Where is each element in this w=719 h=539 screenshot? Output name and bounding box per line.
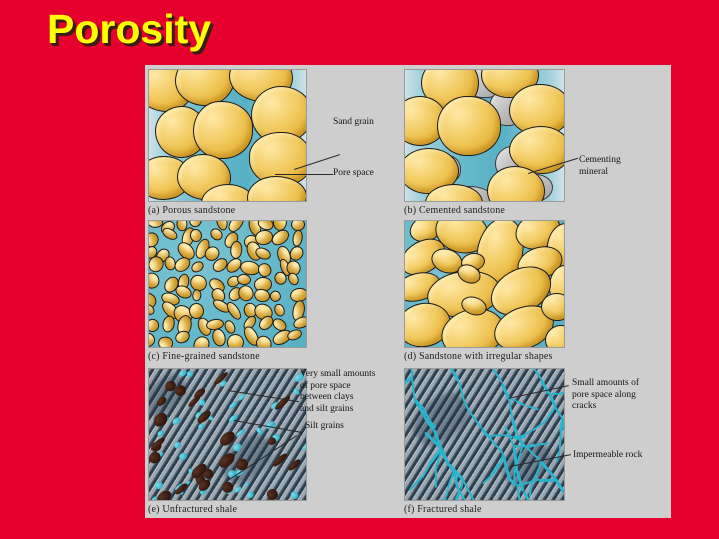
crack-line	[529, 482, 533, 497]
crack-line	[530, 368, 542, 380]
callout-cementing-mineral: Cementing mineral	[579, 155, 621, 178]
crack-line	[554, 406, 563, 419]
sand-grain	[269, 226, 292, 248]
caption-panel-e: (e) Unfractured shale	[148, 504, 237, 515]
figure-plate: Sand grain Pore space (a) Porous sandsto…	[145, 65, 671, 518]
panel-b-image	[404, 69, 565, 202]
callout-pore-space-along-cracks: Small amounts of pore space along cracks	[572, 378, 639, 413]
panel-irregular-sandstone: (d) Sandstone with irregular shapes	[404, 220, 668, 365]
crack-line	[516, 400, 527, 407]
caption-panel-d: (d) Sandstone with irregular shapes	[404, 351, 553, 362]
crack-line	[548, 393, 556, 407]
pore-space-speck	[231, 442, 242, 453]
panel-f-image	[404, 368, 565, 501]
sand-grain	[291, 229, 304, 248]
sand-grain	[148, 271, 160, 290]
callout-pore-space-between-clays: Very small amounts of pore space between…	[300, 369, 375, 415]
crack-line	[528, 444, 536, 448]
silt-grain	[265, 487, 281, 501]
slide-canvas: Porosity Sand grain Pore sp	[0, 0, 719, 539]
sand-grain	[160, 226, 179, 242]
leader-line-pore-space	[275, 174, 333, 175]
crack-line	[435, 469, 437, 488]
panel-porous-sandstone: Sand grain Pore space (a) Porous sandsto…	[148, 69, 398, 217]
pore-space-speck	[177, 452, 187, 462]
pore-space-speck	[153, 480, 163, 490]
pore-space-speck	[173, 440, 182, 449]
pore-space-speck	[171, 416, 182, 427]
panel-fine-grained-sandstone: (c) Fine-grained sandstone	[148, 220, 398, 365]
caption-panel-b: (b) Cemented sandstone	[404, 205, 505, 216]
sand-grain	[273, 302, 287, 318]
callout-silt-grains: Silt grains	[305, 421, 344, 433]
sand-grain	[157, 336, 173, 348]
crack-line	[491, 463, 501, 476]
caption-panel-c: (c) Fine-grained sandstone	[148, 351, 260, 362]
silt-grain	[287, 457, 302, 471]
crack-line	[421, 463, 431, 478]
sand-grain	[148, 317, 160, 333]
silt-grain	[155, 488, 174, 501]
pore-space-speck	[289, 489, 300, 500]
callout-impermeable-rock: Impermeable rock	[573, 450, 642, 462]
page-title: Porosity	[47, 8, 211, 51]
sand-grain	[437, 96, 501, 156]
silt-grain	[151, 411, 170, 429]
crack-line	[559, 432, 562, 449]
crack-line	[438, 497, 447, 501]
crack-line	[526, 405, 539, 411]
pore-space-speck	[246, 491, 255, 500]
panel-fractured-shale: Small amounts of pore space along cracks…	[404, 368, 668, 518]
crack-line	[540, 379, 550, 395]
panel-unfractured-shale: Very small amounts of pore space between…	[148, 368, 398, 518]
pore-space-speck	[186, 369, 195, 378]
crack-line	[508, 399, 513, 417]
panel-c-image	[148, 220, 307, 348]
crack-line	[458, 381, 465, 401]
crack-line	[468, 410, 482, 429]
sand-grain	[193, 101, 253, 159]
crack-line	[448, 368, 460, 382]
crack-line	[514, 445, 529, 447]
pore-space-speck	[228, 400, 238, 409]
crack-line	[563, 491, 565, 501]
crack-line	[482, 474, 493, 484]
caption-panel-a: (a) Porous sandstone	[148, 205, 235, 216]
sand-grain	[268, 289, 283, 304]
panel-a-image	[148, 69, 307, 202]
crack-line	[435, 457, 440, 470]
sand-grain	[148, 330, 158, 348]
sand-grain	[255, 260, 274, 279]
crack-line	[539, 478, 555, 481]
pore-space-speck	[235, 428, 246, 438]
crack-line	[531, 419, 547, 432]
sand-grain	[189, 259, 205, 274]
crack-line	[411, 376, 416, 399]
crack-line	[408, 477, 422, 491]
silt-grain	[220, 480, 235, 495]
fine-grain-field	[149, 221, 306, 347]
callout-sand-grain: Sand grain	[333, 117, 374, 129]
silt-grain	[217, 451, 238, 471]
callout-pore-space: Pore space	[333, 168, 374, 180]
panel-cemented-sandstone: Cementing mineral (b) Cemented sandstone	[404, 69, 668, 217]
silt-grain	[272, 451, 290, 468]
pore-space-speck	[301, 443, 307, 453]
pore-space-speck	[227, 413, 238, 424]
crack-line	[539, 460, 556, 479]
sand-grain	[192, 289, 202, 301]
crack-line	[490, 368, 503, 383]
pore-space-speck	[197, 423, 204, 430]
pore-space-speck	[255, 427, 264, 436]
crack-line	[557, 391, 565, 394]
pore-space-speck	[233, 485, 243, 494]
pore-space-speck	[244, 481, 251, 487]
crack-line	[511, 417, 518, 434]
panel-d-image	[404, 220, 565, 348]
crack-network	[405, 369, 564, 500]
crack-line	[487, 436, 504, 455]
caption-panel-f: (f) Fractured shale	[404, 504, 482, 515]
crack-line	[564, 431, 565, 443]
silt-grain	[155, 396, 168, 408]
crack-line	[536, 442, 549, 445]
